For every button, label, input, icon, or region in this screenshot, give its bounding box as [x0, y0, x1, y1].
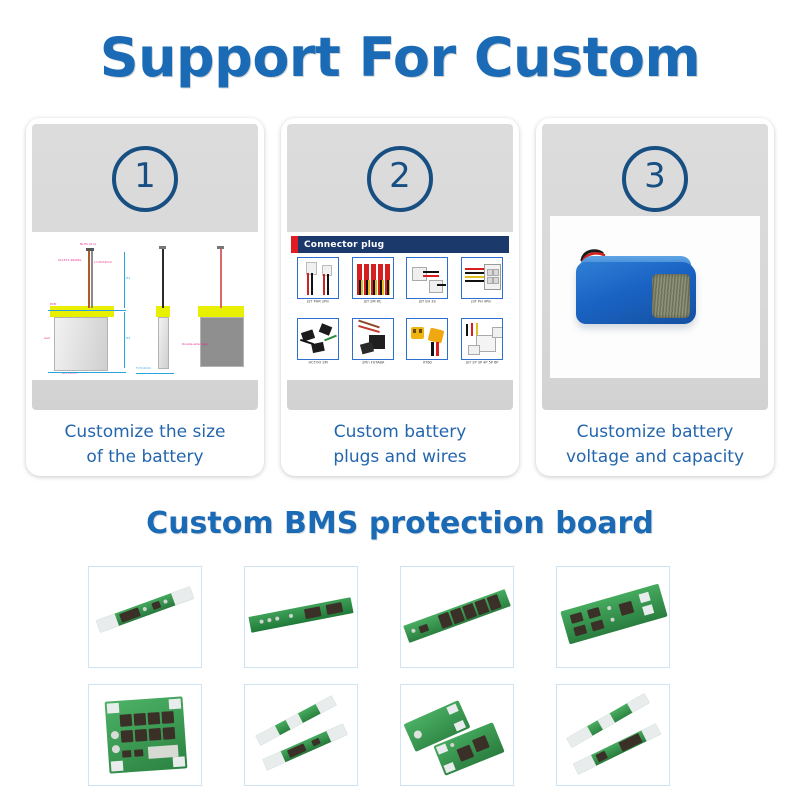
bms-section-title: Custom BMS protection board	[0, 506, 800, 541]
step-number-2: 2	[367, 146, 433, 212]
bms-board-wide-a	[560, 584, 667, 645]
card-2-caption: Custom battery plugs and wires	[281, 420, 519, 470]
bms-board-cell[interactable]	[556, 684, 670, 786]
feature-card-1[interactable]: 1 Ni-PC (0.1) UL1571 26AWG L=20±2mm PCB …	[26, 118, 264, 476]
connector-item: JST PHR 2Pin	[293, 257, 344, 315]
feature-card-row: 1 Ni-PC (0.1) UL1571 26AWG L=20±2mm PCB …	[26, 118, 774, 478]
card-1-caption-line-2: of the battery	[26, 445, 264, 470]
feature-card-3[interactable]: 3 Customi	[536, 118, 774, 476]
connector-label: JST SM RC	[364, 300, 382, 304]
bms-board-cell[interactable]	[556, 566, 670, 668]
poster-root: Support For Custom 1 Ni-PC (0.1) UL1571 …	[0, 0, 800, 800]
connector-plug-sheet: Connector plug	[287, 232, 513, 380]
bms-board-strip-b	[248, 597, 353, 633]
bms-board-pair-b	[401, 685, 514, 786]
card-2-panel: 2 Connector plug	[287, 124, 513, 410]
connector-image-jst-phr	[297, 257, 339, 299]
header-accent-block	[291, 236, 298, 253]
step-number-3: 3	[622, 146, 688, 212]
connector-label: JST PHR 2Pin	[307, 300, 329, 304]
card-1-media-battery-drawing: Ni-PC (0.1) UL1571 26AWG L=20±2mm PCB Ce…	[32, 232, 258, 380]
connector-image-jst-ph	[461, 257, 503, 299]
card-3-media-battery-photo	[550, 216, 760, 378]
connector-image-jst-sm-rc	[352, 257, 394, 299]
connector-item: XT60	[402, 318, 453, 376]
connector-item: JST SM RC	[348, 257, 399, 315]
connector-label: HCTOO SM	[309, 361, 328, 365]
feature-card-2[interactable]: 2 Connector plug	[281, 118, 519, 476]
card-1-caption-line-1: Customize the size	[26, 420, 264, 445]
connector-image-jst-eh	[406, 257, 448, 299]
bms-board-grid	[88, 566, 712, 794]
connector-plug-grid: JST PHR 2Pin	[293, 257, 507, 376]
connector-label: XT60	[423, 361, 432, 365]
connector-image-futaba	[352, 318, 394, 360]
connector-label: JST EH 3S	[419, 300, 436, 304]
bms-board-cell[interactable]	[88, 566, 202, 668]
connector-image-jst-multi	[461, 318, 503, 360]
bms-board-cell[interactable]	[244, 566, 358, 668]
bms-board-pair-c	[557, 685, 670, 786]
connector-sheet-header: Connector plug	[291, 236, 509, 253]
card-1-caption: Customize the size of the battery	[26, 420, 264, 470]
card-3-caption-line-2: voltage and capacity	[536, 445, 774, 470]
blue-battery-pack-photo	[550, 216, 760, 378]
connector-image-hctoo-sm	[297, 318, 339, 360]
bms-board-pair-a	[245, 685, 358, 786]
card-2-media-connector-sheet: Connector plug	[287, 232, 513, 380]
page-title: Support For Custom	[0, 26, 800, 89]
connector-label: 2Pin FUTABA	[362, 361, 384, 365]
connector-label: JST 2P 3P 4P 5P 6P	[465, 361, 498, 365]
battery-dimension-drawing: Ni-PC (0.1) UL1571 26AWG L=20±2mm PCB Ce…	[32, 232, 258, 380]
card-3-caption-line-1: Customize battery	[536, 420, 774, 445]
connector-sheet-header-label: Connector plug	[304, 240, 384, 250]
bms-board-strip-c	[403, 589, 511, 643]
connector-item: JST 2P 3P 4P 5P 6P	[457, 318, 508, 376]
connector-image-xt60	[406, 318, 448, 360]
bms-board-cell[interactable]	[88, 684, 202, 786]
bms-board-cell[interactable]	[244, 684, 358, 786]
connector-label: JST PH 4Pin	[472, 300, 492, 304]
bms-board-cell[interactable]	[400, 684, 514, 786]
connector-item: JST EH 3S	[402, 257, 453, 315]
bms-board-square-a	[105, 696, 188, 773]
card-2-caption-line-2: plugs and wires	[281, 445, 519, 470]
battery-end-face	[652, 274, 690, 318]
step-number-1: 1	[112, 146, 178, 212]
card-2-caption-line-1: Custom battery	[281, 420, 519, 445]
connector-item: 2Pin FUTABA	[348, 318, 399, 376]
connector-item: JST PH 4Pin	[457, 257, 508, 315]
connector-item: HCTOO SM	[293, 318, 344, 376]
card-3-panel: 3	[542, 124, 768, 410]
card-1-panel: 1 Ni-PC (0.1) UL1571 26AWG L=20±2mm PCB …	[32, 124, 258, 410]
bms-board-strip-a	[96, 586, 194, 632]
card-3-caption: Customize battery voltage and capacity	[536, 420, 774, 470]
bms-board-cell[interactable]	[400, 566, 514, 668]
